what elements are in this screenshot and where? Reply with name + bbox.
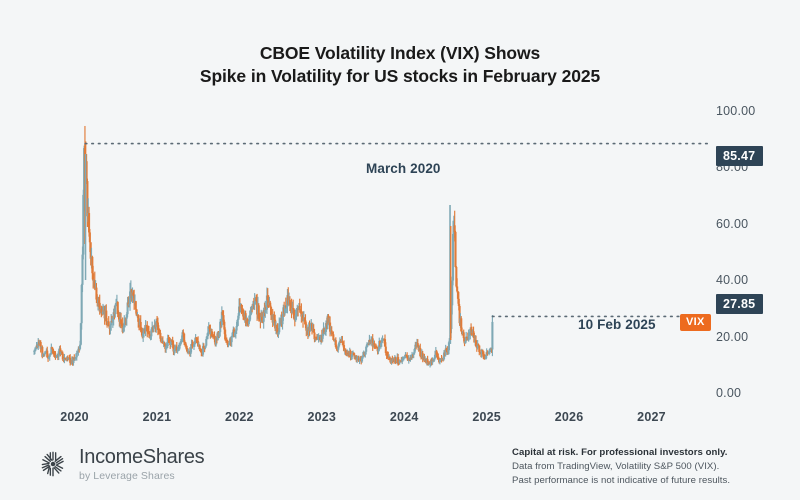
chart-title-line-2: Spike in Volatility for US stocks in Feb…: [0, 65, 800, 88]
vix-ticker-chip: VIX: [680, 314, 711, 331]
y-tick-label: 20.00: [716, 330, 748, 344]
annotation-march-2020: March 2020: [366, 161, 441, 176]
disclaimer-past-performance: Past performance is not indicative of fu…: [512, 474, 782, 488]
brand-subtitle: by Leverage Shares: [79, 471, 204, 482]
y-tick-label: 40.00: [716, 273, 748, 287]
vix-chart-card: CBOE Volatility Index (VIX) Shows Spike …: [0, 0, 800, 500]
last-price-badge: 27.85: [716, 294, 763, 314]
chart-title: CBOE Volatility Index (VIX) Shows Spike …: [0, 42, 800, 88]
x-tick-label: 2027: [637, 410, 666, 424]
y-axis: 100.00 80.00 60.00 40.00 20.00 0.00: [714, 100, 800, 400]
x-axis: 20202021202220232024202520262027: [30, 410, 710, 430]
disclaimer-block: Capital at risk. For professional invest…: [512, 446, 782, 488]
y-tick-label: 0.00: [716, 386, 741, 400]
chart-plot-area: [30, 100, 710, 400]
x-tick-label: 2023: [307, 410, 336, 424]
disclaimer-data-source: Data from TradingView, Volatility S&P 50…: [512, 460, 782, 474]
x-tick-label: 2022: [225, 410, 254, 424]
chart-title-line-1: CBOE Volatility Index (VIX) Shows: [0, 42, 800, 65]
y-tick-label: 100.00: [716, 104, 755, 118]
brand-logo: IncomeShares by Leverage Shares: [36, 447, 204, 482]
y-tick-label: 60.00: [716, 217, 748, 231]
x-tick-label: 2020: [60, 410, 89, 424]
annotation-10-feb-2025: 10 Feb 2025: [578, 317, 656, 332]
brand-text: IncomeShares by Leverage Shares: [79, 447, 204, 482]
peak-price-badge: 85.47: [716, 146, 763, 166]
chart-svg: [30, 100, 710, 400]
x-tick-label: 2021: [143, 410, 172, 424]
brand-name: IncomeShares: [79, 447, 204, 467]
disclaimer-capital-at-risk: Capital at risk. For professional invest…: [512, 446, 782, 460]
x-tick-label: 2024: [390, 410, 419, 424]
x-tick-label: 2025: [472, 410, 501, 424]
x-tick-label: 2026: [555, 410, 584, 424]
incomeshares-hexagon-logo-icon: [36, 447, 70, 481]
